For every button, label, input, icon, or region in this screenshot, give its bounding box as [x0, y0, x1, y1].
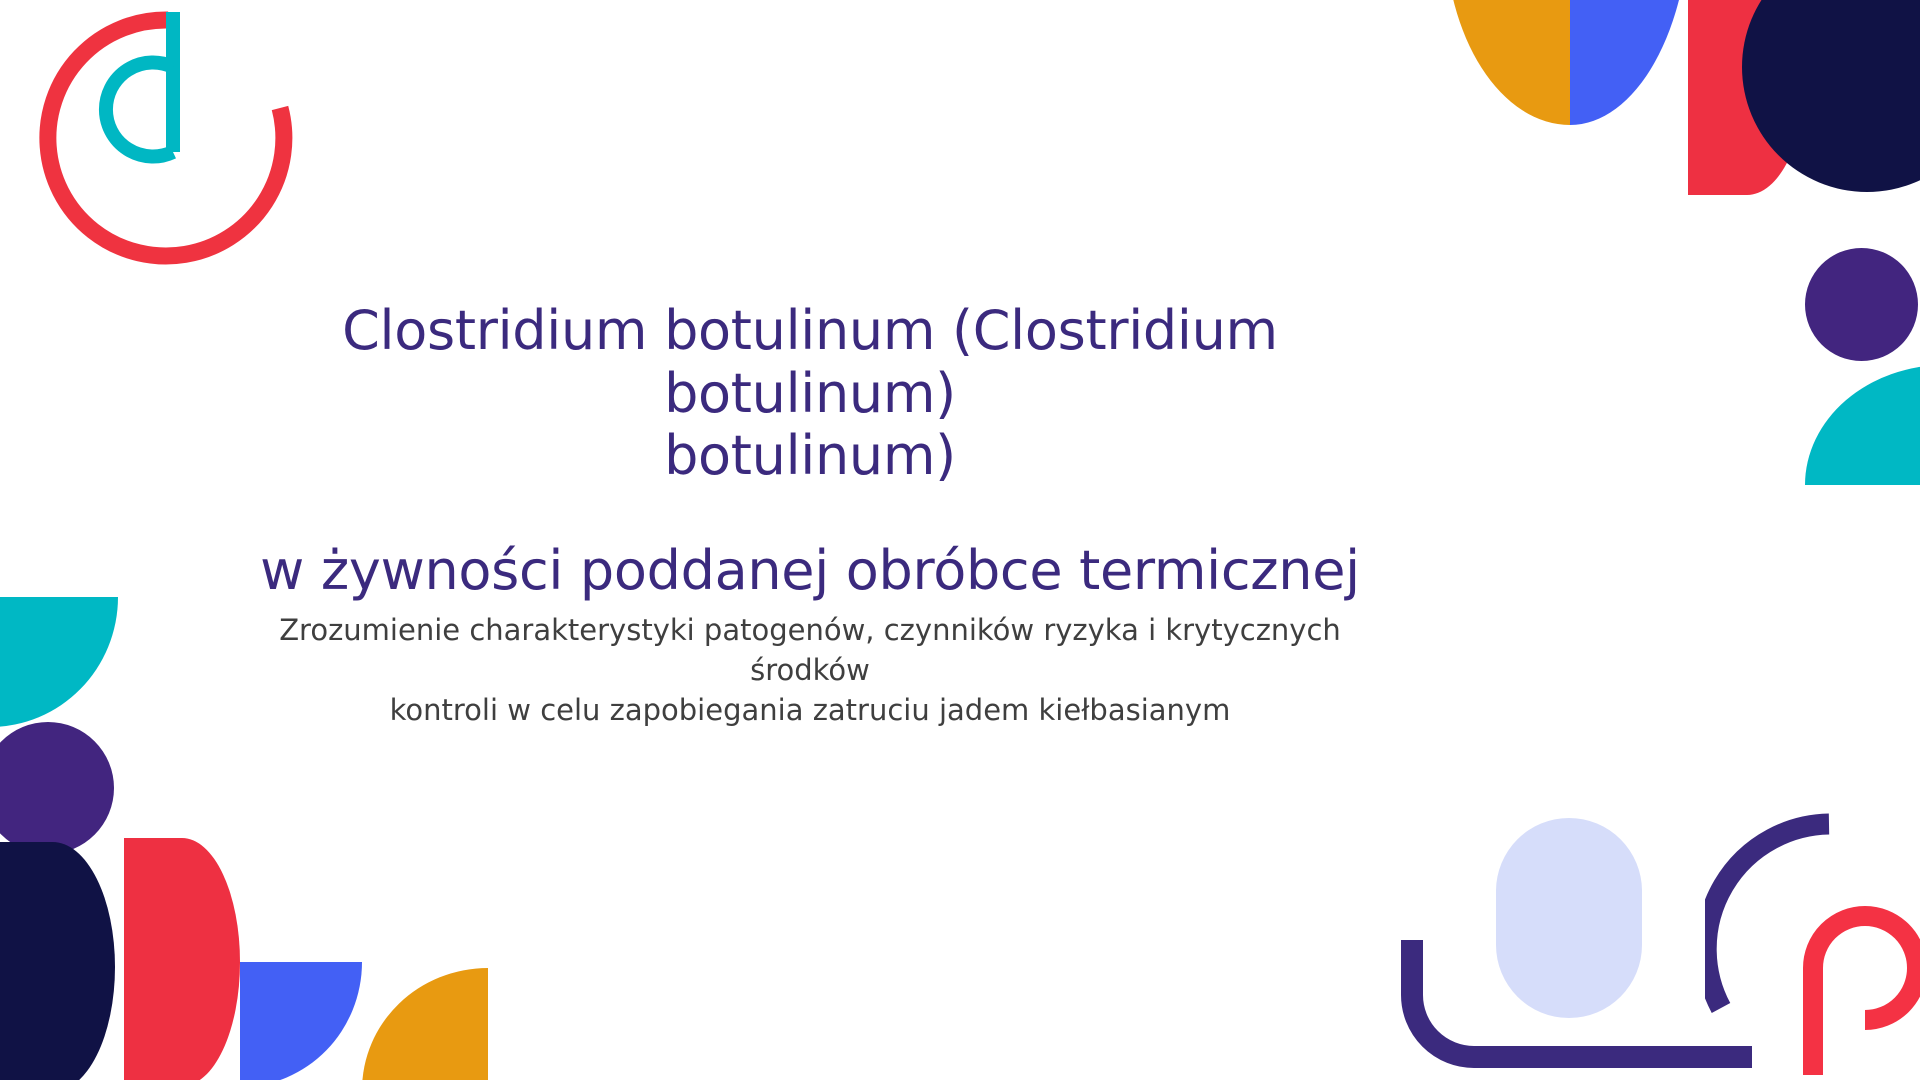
red-p-shape	[1795, 900, 1920, 1080]
red-half-circle-left	[124, 838, 240, 1080]
slide-title-line-1: Clostridium botulinum (Clostridium botul…	[230, 300, 1390, 425]
subtitle-block: Zrozumienie charakterystyki patogenów, c…	[230, 610, 1390, 730]
slide-title-line-3: w żywności poddanej obróbce termicznej	[230, 540, 1390, 603]
title-block: Clostridium botulinum (Clostridium botul…	[230, 300, 1390, 603]
lavender-pill	[1496, 818, 1642, 1018]
blue-quarter-circle-left	[240, 962, 362, 1080]
orange-quarter-circle-left	[362, 968, 488, 1080]
presentation-slide: Clostridium botulinum (Clostridium botul…	[0, 0, 1920, 1080]
blue-quarter-circle	[1570, 0, 1690, 125]
slide-subtitle-line-1: Zrozumienie charakterystyki patogenów, c…	[230, 610, 1390, 690]
orange-quarter-circle	[1445, 0, 1570, 125]
navy-half-circle	[0, 842, 115, 1080]
slide-subtitle-line-2: kontroli w celu zapobiegania zatruciu ja…	[230, 690, 1390, 730]
teal-quarter-circle-left	[0, 597, 118, 727]
purple-circle-left	[0, 722, 114, 854]
teal-quarter-circle	[1805, 365, 1920, 485]
brand-logo-d-mark	[34, 0, 302, 282]
slide-title-line-2: botulinum)	[230, 425, 1390, 488]
purple-circle	[1805, 248, 1918, 361]
